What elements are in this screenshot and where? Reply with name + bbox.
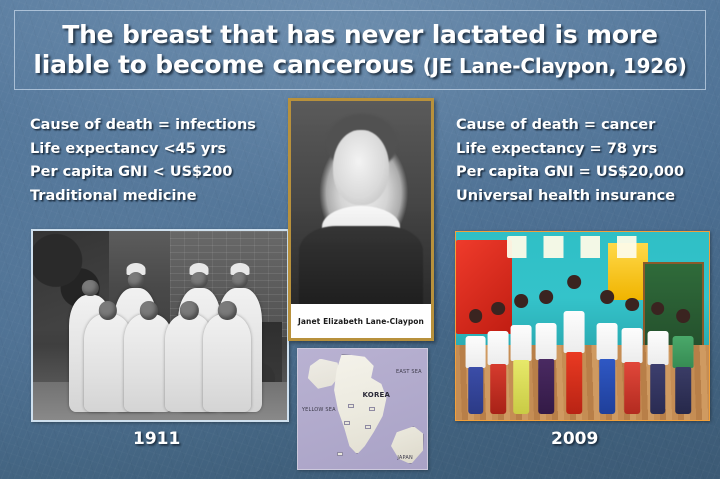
performer-1 xyxy=(466,309,485,414)
right-line-4: Universal health insurance xyxy=(456,185,718,209)
portrait-photograph xyxy=(291,101,431,310)
title-box: The breast that has never lactated is mo… xyxy=(14,10,706,90)
performer-5 xyxy=(565,275,584,414)
performer-8 xyxy=(648,302,667,415)
right-line-2: Life expectancy = 78 yrs xyxy=(456,138,718,162)
kpop-group-photo-2009 xyxy=(455,231,710,421)
map-callout-5 xyxy=(337,452,343,456)
performer-7 xyxy=(623,298,642,415)
left-line-2: Life expectancy <45 yrs xyxy=(30,138,298,162)
photo-person-front-4 xyxy=(203,314,251,412)
studio-ceiling-lights xyxy=(507,236,649,259)
photo-scene-background xyxy=(33,231,287,420)
map-callout-1 xyxy=(348,404,354,408)
left-text-column: Cause of death = infections Life expecta… xyxy=(30,114,298,209)
portrait-dress xyxy=(299,226,422,310)
performer-2 xyxy=(489,302,508,415)
korea-map-inset: KOREA EAST SEA YELLOW SEA JAPAN xyxy=(297,348,428,470)
performer-9 xyxy=(674,309,693,414)
title-citation: (JE Lane-Claypon, 1926) xyxy=(423,54,687,78)
map-callout-3 xyxy=(344,421,350,425)
map-label-east-sea: EAST SEA xyxy=(396,369,422,375)
right-line-1: Cause of death = cancer xyxy=(456,114,718,138)
historic-group-photo-1911 xyxy=(31,229,289,422)
right-line-3: Per capita GNI = US$20,000 xyxy=(456,161,718,185)
page-title: The breast that has never lactated is mo… xyxy=(21,20,699,81)
left-line-3: Per capita GNI < US$200 xyxy=(30,161,298,185)
map-callout-4 xyxy=(365,425,371,429)
portrait-face xyxy=(333,130,389,205)
map-label-japan: JAPAN xyxy=(397,455,413,461)
left-line-4: Traditional medicine xyxy=(30,185,298,209)
slide-canvas: The breast that has never lactated is mo… xyxy=(0,0,720,479)
lane-claypon-portrait: Janet Elizabeth Lane-Claypon xyxy=(288,98,434,341)
left-line-1: Cause of death = infections xyxy=(30,114,298,138)
year-label-2009: 2009 xyxy=(551,429,598,449)
right-text-column: Cause of death = cancer Life expectancy … xyxy=(456,114,718,209)
map-label-korea: KOREA xyxy=(363,391,391,399)
performer-4 xyxy=(537,290,556,414)
performer-6 xyxy=(598,290,617,414)
year-label-1911: 1911 xyxy=(133,429,180,449)
performer-3 xyxy=(512,294,531,414)
portrait-caption: Janet Elizabeth Lane-Claypon xyxy=(291,304,431,338)
map-label-yellow-sea: YELLOW SEA xyxy=(302,407,336,413)
map-callout-2 xyxy=(369,407,375,411)
